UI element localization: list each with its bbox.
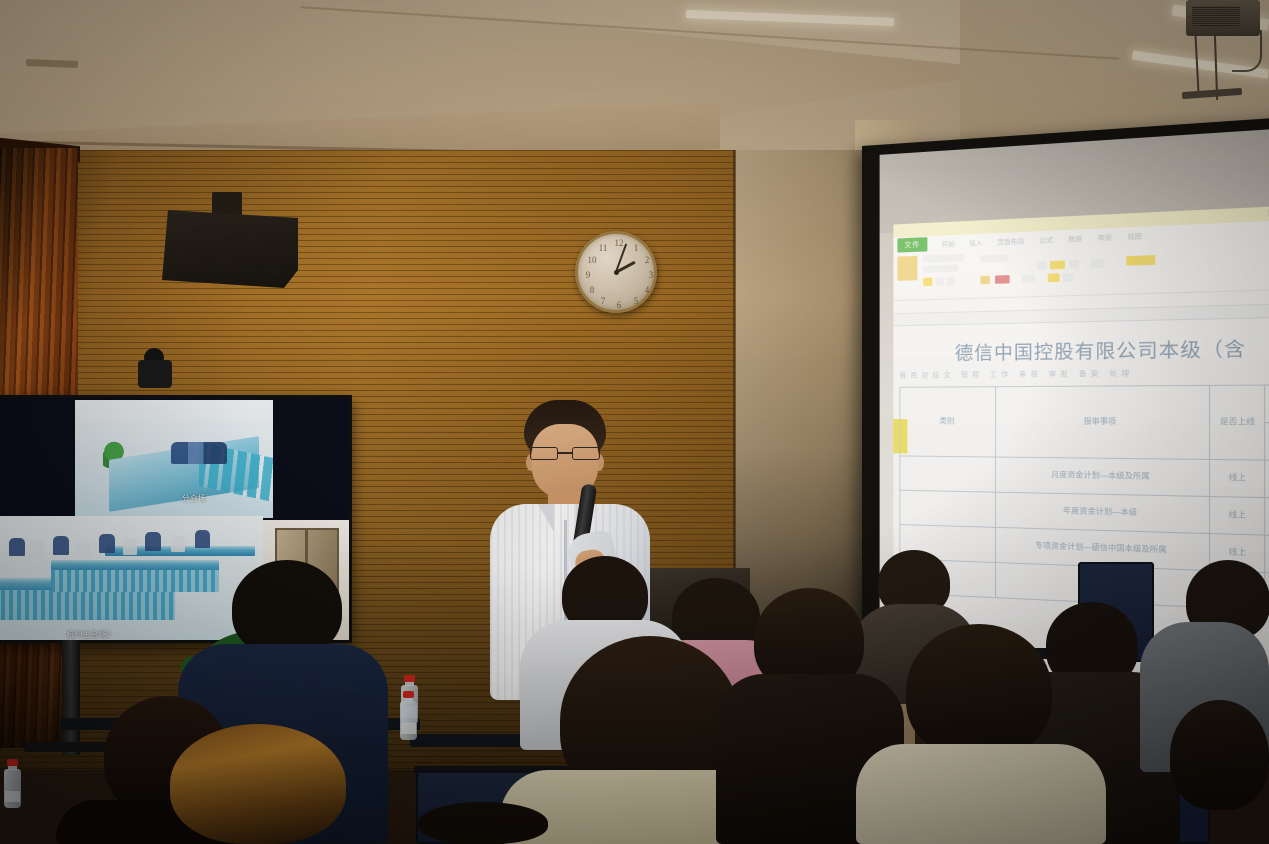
tab-review[interactable]: 审阅 bbox=[1098, 231, 1112, 242]
feed-person bbox=[9, 538, 25, 556]
bottle-label bbox=[401, 723, 416, 734]
feed-person bbox=[99, 534, 115, 553]
document-title: 德信中国控股有限公司本级（含 bbox=[893, 333, 1269, 367]
shirt-collar bbox=[538, 504, 554, 532]
feed-label: 杭州主会场2 bbox=[16, 629, 161, 640]
feed-table-skirt bbox=[0, 590, 175, 620]
fill-color-button[interactable] bbox=[980, 276, 989, 285]
wrap-text-button[interactable] bbox=[1048, 273, 1060, 282]
audience-head bbox=[170, 724, 346, 844]
clock-center-pin bbox=[614, 270, 619, 275]
glasses-lens bbox=[572, 447, 600, 460]
ceiling-projector-icon bbox=[1186, 0, 1260, 36]
bottle-label bbox=[5, 791, 20, 802]
glasses-bridge bbox=[558, 452, 572, 454]
cell-dept: 口 bbox=[1265, 460, 1269, 499]
borders-button[interactable] bbox=[1022, 274, 1035, 283]
video-feed-tile: 分会场 bbox=[75, 400, 273, 518]
wall-clock-icon: 12 1 2 3 4 5 6 7 8 9 10 11 bbox=[575, 231, 657, 313]
number-format-select[interactable] bbox=[980, 254, 1007, 262]
tab-insert[interactable]: 插入 bbox=[969, 236, 982, 247]
wall-speaker-icon bbox=[162, 210, 298, 288]
font-size-select[interactable] bbox=[923, 264, 957, 272]
bottle-cap bbox=[7, 759, 18, 766]
water-bottle-icon bbox=[400, 692, 417, 740]
video-feed-tile: 杭州主会场2 bbox=[0, 516, 263, 640]
speaker-bracket bbox=[212, 192, 242, 216]
audience-head bbox=[232, 560, 342, 656]
clock-numeral: 3 bbox=[645, 270, 657, 280]
col-header-group: 线上 bbox=[1265, 385, 1269, 423]
feed-person bbox=[145, 532, 161, 551]
tab-home[interactable]: 开始 bbox=[942, 237, 955, 248]
clock-numeral: 1 bbox=[630, 243, 642, 253]
audience-head bbox=[1170, 700, 1269, 810]
clock-numeral: 9 bbox=[582, 270, 594, 280]
clock-numeral: 4 bbox=[641, 285, 653, 295]
merge-cells-button[interactable] bbox=[1050, 261, 1065, 270]
monitor-stand bbox=[62, 640, 80, 755]
feed-person bbox=[53, 536, 69, 555]
camera-body bbox=[138, 360, 172, 388]
tab-file[interactable]: 文件 bbox=[897, 237, 927, 252]
feed-person bbox=[171, 536, 185, 552]
tab-layout[interactable]: 页面布局 bbox=[997, 234, 1024, 246]
clock-numeral: 2 bbox=[641, 255, 653, 265]
filter-row: 有否对应文 管控 工作 审核 审批 备案 处理 bbox=[899, 366, 1269, 380]
align-left-button[interactable] bbox=[1037, 261, 1047, 270]
cell-online: 线上 bbox=[1210, 459, 1265, 497]
col-header-dept: 资金管理中心 bbox=[1265, 423, 1269, 461]
clock-numeral: 6 bbox=[613, 300, 625, 310]
water-bottle-icon bbox=[4, 760, 21, 808]
feed-person bbox=[29, 540, 44, 557]
audience-head bbox=[906, 624, 1052, 758]
clock-numeral: 8 bbox=[586, 285, 598, 295]
clock-numeral: 5 bbox=[630, 296, 642, 306]
table-header-row: 类别 报审事项 是否上线 线上 bbox=[900, 385, 1269, 423]
tab-data[interactable]: 数据 bbox=[1068, 232, 1082, 243]
bottle-cap bbox=[404, 675, 415, 682]
projector-cable bbox=[1232, 30, 1262, 72]
glasses-lens bbox=[530, 447, 558, 460]
cell-item: 月度资金计划—本级及所属 bbox=[995, 457, 1210, 496]
align-right-button[interactable] bbox=[1069, 260, 1079, 269]
conference-camera-icon bbox=[134, 348, 174, 392]
cell-dept: 口 bbox=[1265, 535, 1269, 575]
bottle-body bbox=[400, 701, 417, 740]
projector-grille bbox=[1192, 6, 1240, 26]
audience-head bbox=[418, 802, 548, 844]
font-color-button[interactable] bbox=[995, 275, 1010, 284]
feed-person bbox=[123, 538, 137, 555]
col-header-online: 是否上线 bbox=[1210, 385, 1265, 460]
tab-view[interactable]: 视图 bbox=[1127, 229, 1142, 240]
feed-label: 分会场 bbox=[134, 493, 253, 504]
cell-online: 线上 bbox=[1210, 497, 1265, 536]
italic-button[interactable] bbox=[935, 277, 943, 285]
clock-numeral: 7 bbox=[597, 296, 609, 306]
sort-filter-button[interactable] bbox=[1091, 259, 1104, 268]
bold-button[interactable] bbox=[923, 278, 932, 286]
paste-button[interactable] bbox=[897, 256, 917, 281]
bottle-body bbox=[4, 769, 21, 808]
feed-person bbox=[195, 530, 210, 548]
cell-category bbox=[900, 490, 995, 527]
audience-body bbox=[856, 744, 1106, 844]
font-family-select[interactable] bbox=[923, 254, 964, 263]
bottle-cap bbox=[403, 691, 414, 698]
tab-formula[interactable]: 公式 bbox=[1039, 233, 1053, 244]
feed-people bbox=[171, 442, 227, 464]
col-header-item: 报审事项 bbox=[995, 385, 1210, 459]
underline-button[interactable] bbox=[947, 277, 955, 285]
clock-numeral: 11 bbox=[597, 243, 609, 253]
conference-room-photo: 12 1 2 3 4 5 6 7 8 9 10 11 协作 查找命令 文件 开始 bbox=[0, 0, 1269, 844]
col-header-category: 类别 bbox=[900, 387, 995, 457]
cell-category bbox=[900, 456, 995, 492]
feed-person bbox=[77, 542, 91, 558]
feed-table-skirt bbox=[51, 570, 219, 592]
indent-button[interactable] bbox=[1063, 273, 1074, 282]
cell-dept: 口 bbox=[1265, 498, 1269, 537]
glasses-icon bbox=[530, 447, 600, 460]
conditional-format-button[interactable] bbox=[1126, 255, 1155, 266]
clock-numeral: 10 bbox=[586, 255, 598, 265]
